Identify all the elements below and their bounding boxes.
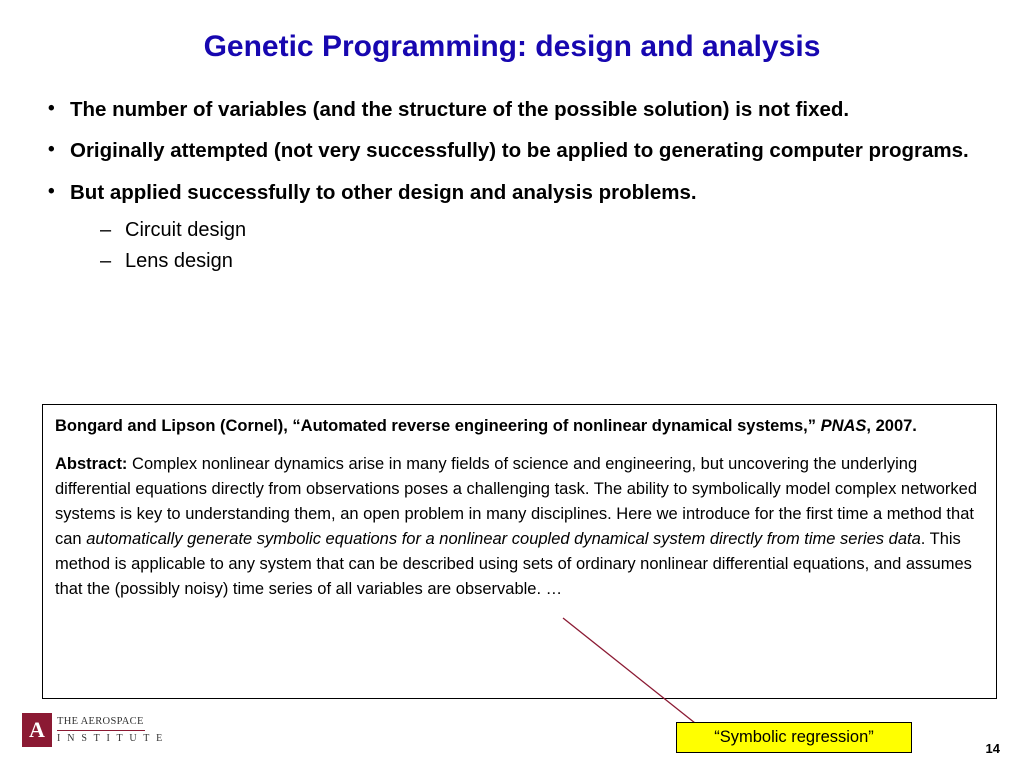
sub-bullet-text: Circuit design: [125, 216, 246, 245]
bullet-marker-icon: •: [48, 179, 70, 204]
dash-marker-icon: –: [100, 247, 125, 276]
sub-bullet-list: – Circuit design – Lens design: [100, 216, 988, 276]
sub-bullet-text: Lens design: [125, 247, 233, 276]
logo-mark-icon: A: [22, 713, 52, 747]
citation-part1: Bongard and Lipson (Cornel), “Automated …: [55, 417, 821, 435]
abstract-text: Abstract: Complex nonlinear dynamics ari…: [55, 452, 984, 602]
bullet-item: • Originally attempted (not very success…: [48, 137, 988, 164]
bullet-item: • But applied successfully to other desi…: [48, 179, 988, 206]
logo-divider: [57, 730, 145, 731]
bullet-list: • The number of variables (and the struc…: [48, 96, 988, 278]
citation-journal: PNAS: [821, 417, 867, 435]
page-number: 14: [986, 741, 1000, 756]
bullet-marker-icon: •: [48, 137, 70, 162]
bullet-marker-icon: •: [48, 96, 70, 121]
slide: Genetic Programming: design and analysis…: [0, 0, 1024, 768]
bullet-text: The number of variables (and the structu…: [70, 96, 988, 123]
callout-label: “Symbolic regression”: [676, 722, 912, 753]
logo-line-2: I N S T I T U T E: [57, 733, 164, 744]
sub-bullet-item: – Circuit design: [100, 216, 988, 245]
aerospace-institute-logo: A THE AEROSPACE I N S T I T U T E: [22, 710, 164, 750]
citation-part2: , 2007.: [866, 417, 916, 435]
bullet-text: But applied successfully to other design…: [70, 179, 988, 206]
page-title: Genetic Programming: design and analysis: [40, 30, 984, 64]
abstract-label: Abstract:: [55, 455, 127, 473]
logo-line-1: THE AEROSPACE: [57, 716, 164, 728]
sub-bullet-item: – Lens design: [100, 247, 988, 276]
abstract-emphasis: automatically generate symbolic equation…: [86, 530, 921, 548]
bullet-item: • The number of variables (and the struc…: [48, 96, 988, 123]
callout-text: “Symbolic regression”: [714, 728, 874, 747]
abstract-box: Bongard and Lipson (Cornel), “Automated …: [42, 404, 997, 699]
bullet-text: Originally attempted (not very successfu…: [70, 137, 988, 164]
dash-marker-icon: –: [100, 216, 125, 245]
citation-text: Bongard and Lipson (Cornel), “Automated …: [55, 415, 984, 439]
logo-text: THE AEROSPACE I N S T I T U T E: [57, 713, 164, 747]
